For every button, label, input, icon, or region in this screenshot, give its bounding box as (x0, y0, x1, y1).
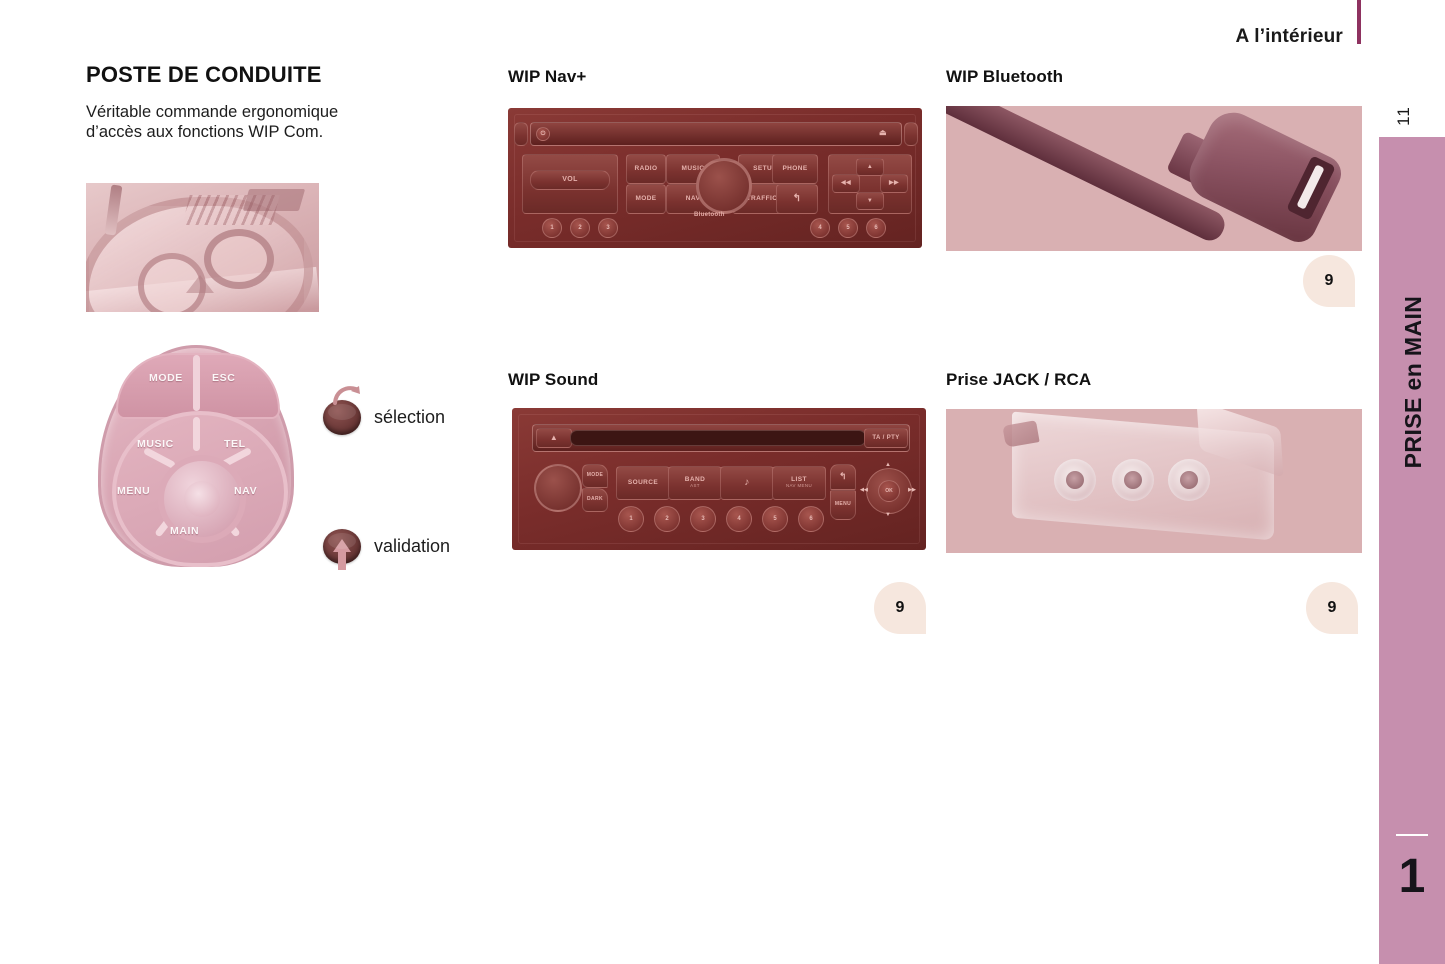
preset-button-3[interactable]: 3 (690, 506, 716, 532)
panel-title-prise-jack-rca: Prise JACK / RCA (946, 370, 1091, 390)
control-label-esc: ESC (212, 372, 235, 384)
eject-button[interactable]: ▲ (536, 428, 572, 448)
legend-label-validation: validation (374, 536, 450, 557)
press-arrow-icon (332, 537, 352, 571)
back-arrow-icon[interactable]: ↰ (830, 464, 856, 490)
control-label-menu: MENU (117, 485, 150, 497)
menu-button[interactable]: MENU (830, 490, 856, 520)
sound-directional-pad[interactable]: OK ▲ ▼ ◀◀ ▶▶ (858, 460, 916, 520)
control-label-music: MUSIC (137, 438, 174, 450)
steering-control-diagram: MODE ESC MUSIC TEL MENU NAV MAIN (98, 345, 294, 567)
preset-button-1[interactable]: 1 (618, 506, 644, 532)
control-center-hub-inner (184, 481, 220, 517)
preset-button-5[interactable]: 5 (762, 506, 788, 532)
legend-label-selection: sélection (374, 407, 445, 428)
usb-connector-photo (946, 106, 1362, 251)
next-button[interactable]: ▶▶ (880, 174, 908, 193)
dashboard-dial-shape (204, 229, 274, 289)
chapter-label: PRISE en MAIN (1380, 242, 1445, 522)
rca-socket-3 (1168, 459, 1210, 501)
manual-page: A l’intérieur 11 PRISE en MAIN 1 POSTE D… (0, 0, 1445, 964)
nav-display-slot (530, 122, 902, 146)
page-reference-badge-bluetooth[interactable]: 9 (1303, 255, 1355, 307)
page-reference-badge-sound[interactable]: 9 (874, 582, 926, 634)
phone-button[interactable]: PHONE (772, 154, 818, 184)
preset-button-4[interactable]: 4 (810, 218, 830, 238)
band-button-sublabel: AST (690, 484, 700, 489)
down-button[interactable]: ▼ (880, 510, 896, 520)
ok-button[interactable]: OK (878, 480, 900, 502)
wip-nav-plus-unit: ⏻ ⏏ VOL RADIO MUSIC SETUP PHONE MODE NAV… (508, 108, 922, 248)
legend-item-selection: sélection (323, 400, 445, 435)
back-arrow-icon[interactable]: ↰ (776, 184, 818, 214)
previous-button[interactable]: ◀◀ (856, 485, 872, 495)
page-number: 11 (1384, 96, 1424, 136)
down-button[interactable]: ▼ (856, 192, 884, 210)
previous-button[interactable]: ◀◀ (832, 174, 860, 193)
rotation-arrow-icon (333, 384, 361, 406)
section-title: POSTE DE CONDUITE (86, 62, 322, 88)
ta-pty-button[interactable]: TA / PTY (864, 428, 908, 448)
nav-directional-pad[interactable]: ▲ ▼ ◀◀ ▶▶ (828, 154, 910, 212)
mode-button[interactable]: MODE (582, 464, 608, 488)
rca-socket-2 (1112, 459, 1154, 501)
section-body-text: Véritable commande ergonomique d’accès a… (86, 102, 356, 142)
bluetooth-mark: Bluetooth (694, 212, 725, 218)
cd-slot[interactable] (570, 430, 866, 446)
panel-title-wip-nav-plus: WIP Nav+ (508, 67, 586, 87)
control-spoke-up (193, 417, 200, 451)
up-button[interactable]: ▲ (856, 158, 884, 176)
preset-button-6[interactable]: 6 (798, 506, 824, 532)
volume-button[interactable]: VOL (530, 170, 610, 190)
dashboard-photo (86, 183, 319, 312)
control-label-main: MAIN (170, 525, 199, 537)
next-button[interactable]: ▶▶ (904, 485, 920, 495)
unit-left-cap (514, 122, 528, 146)
panel-title-wip-sound: WIP Sound (508, 370, 598, 390)
preset-button-4[interactable]: 4 (726, 506, 752, 532)
control-label-mode: MODE (149, 372, 183, 384)
preset-button-5[interactable]: 5 (838, 218, 858, 238)
band-button[interactable]: BAND AST (668, 466, 722, 500)
center-rotary-dial[interactable] (696, 158, 752, 214)
wip-sound-unit: ▲ TA / PTY MODE DARK SOURCE BAND AST ♪ L… (512, 408, 926, 550)
list-button[interactable]: LIST NAV MENU (772, 466, 826, 500)
music-note-icon[interactable]: ♪ (720, 466, 774, 500)
page-header-title: A l’intérieur (1236, 26, 1343, 48)
control-label-nav: NAV (234, 485, 257, 497)
eject-icon[interactable]: ⏏ (872, 126, 894, 141)
rca-sockets-photo (946, 409, 1362, 553)
dashboard-panel-shape (243, 189, 305, 211)
rotate-knob-icon (323, 400, 361, 435)
list-button-sublabel: NAV MENU (786, 484, 812, 489)
dashboard-triangle-shape (186, 275, 214, 293)
preset-button-6[interactable]: 6 (866, 218, 886, 238)
header-accent-bar (1357, 0, 1361, 44)
rca-socket-1 (1054, 459, 1096, 501)
press-knob-icon (323, 529, 361, 564)
control-top-divider (193, 355, 200, 411)
sidebar-divider (1396, 834, 1428, 836)
unit-right-cap (904, 122, 918, 146)
power-icon[interactable]: ⏻ (536, 127, 550, 141)
control-label-tel: TEL (224, 438, 246, 450)
preset-button-2[interactable]: 2 (654, 506, 680, 532)
mode-button[interactable]: MODE (626, 184, 666, 214)
volume-knob[interactable] (534, 464, 582, 512)
dark-button[interactable]: DARK (582, 488, 608, 512)
preset-button-2[interactable]: 2 (570, 218, 590, 238)
radio-button[interactable]: RADIO (626, 154, 666, 184)
page-reference-badge-jack[interactable]: 9 (1306, 582, 1358, 634)
chapter-number: 1 (1379, 853, 1445, 901)
chapter-sidebar[interactable]: PRISE en MAIN 1 (1379, 137, 1445, 964)
panel-title-wip-bluetooth: WIP Bluetooth (946, 67, 1063, 87)
preset-button-3[interactable]: 3 (598, 218, 618, 238)
source-button[interactable]: SOURCE (616, 466, 670, 500)
up-button[interactable]: ▲ (880, 460, 896, 470)
preset-button-1[interactable]: 1 (542, 218, 562, 238)
legend-item-validation: validation (323, 529, 450, 564)
